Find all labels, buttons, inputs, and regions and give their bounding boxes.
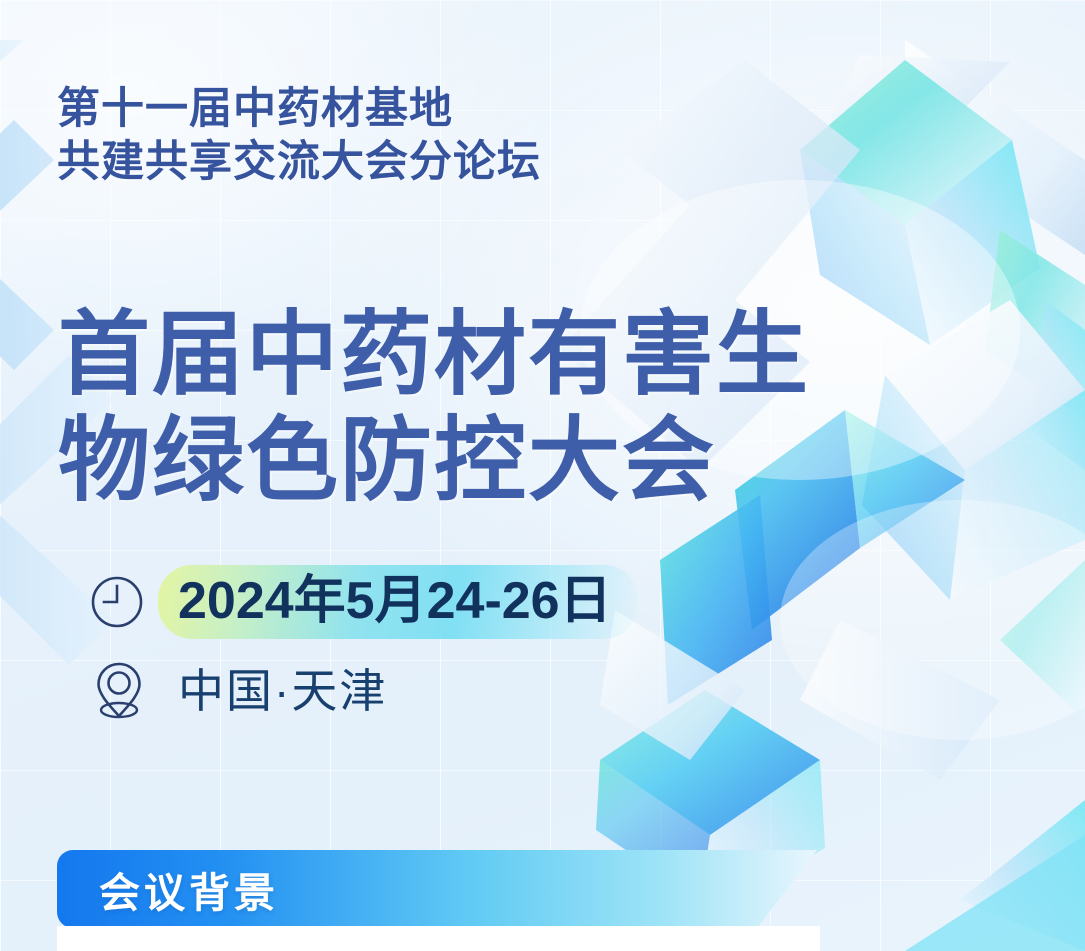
body-content-sheet [57,926,820,951]
event-series-subtitle: 第十一届中药材基地 共建共享交流大会分论坛 [57,83,541,189]
event-location-text: 中国·天津 [178,663,387,719]
event-location-row: 中国·天津 [88,660,387,722]
clock-icon [86,571,148,633]
event-date-text: 2024年5月24-26日 [178,572,612,630]
date-highlight-bar: 2024年5月24-26日 [158,565,638,639]
section-header-label: 会议背景 [99,859,279,919]
event-date-row: 2024年5月24-26日 [86,565,638,639]
conference-poster: 第十一届中药材基地 共建共享交流大会分论坛 首届中药材有害生 物绿色防控大会 2… [0,0,1085,951]
section-header-banner: 会议背景 [57,850,817,928]
map-pin-icon [88,660,150,722]
page-title: 首届中药材有害生 物绿色防控大会 [58,302,810,514]
